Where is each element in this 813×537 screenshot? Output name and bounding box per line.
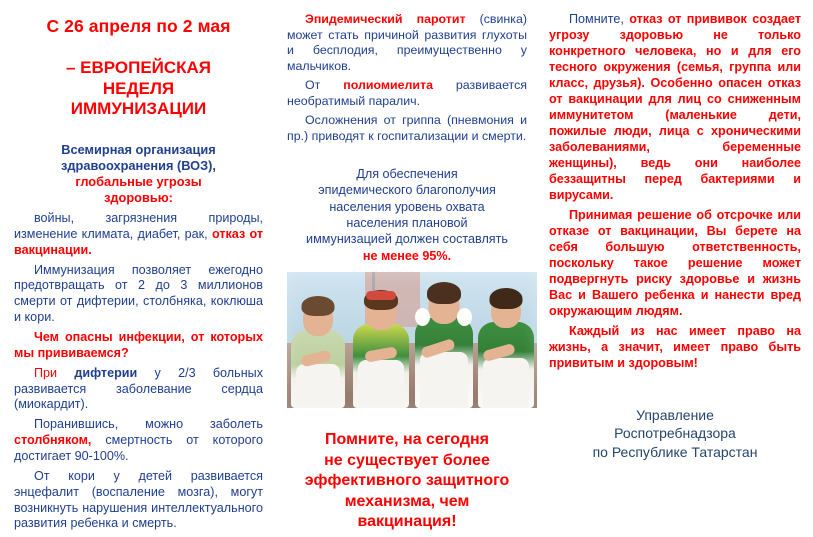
photo-child-3 bbox=[413, 278, 475, 408]
slogan-line-4: механизма, чем bbox=[345, 493, 470, 510]
middle-column: Эпидемический паротит (свинка) может ста… bbox=[277, 0, 537, 537]
paragraph-tetanus: Поранившись, можно заболеть столбняком, … bbox=[14, 417, 263, 465]
heading-why-infections-dangerous: Чем опасны инфекции, от которых мы приви… bbox=[14, 330, 263, 362]
photo-child-2-headband bbox=[366, 291, 396, 300]
photo-child-1-hair bbox=[302, 296, 335, 316]
slogan-line-5: вакцинация! bbox=[357, 513, 456, 530]
coverage-threshold-value: не менее 95%. bbox=[363, 249, 451, 263]
polio-term: полиомиелита bbox=[343, 78, 433, 92]
refusal-risk-lead: Помните, bbox=[569, 12, 624, 26]
paragraph-diphtheria: При дифтерии у 2/3 больных развивается з… bbox=[14, 366, 263, 414]
vaccination-slogan: Помните, на сегодня не существует более … bbox=[287, 430, 527, 532]
who-heading-line-1: Всемирная организация bbox=[61, 142, 216, 157]
coverage-line-4: населения плановой bbox=[346, 216, 467, 230]
paragraph-right-to-health: Каждый из нас имеет право на жизнь, а зн… bbox=[549, 324, 801, 372]
who-heading: Всемирная организация здравоохранения (В… bbox=[14, 142, 263, 206]
authority-line-3: по Республике Татарстан bbox=[593, 444, 758, 460]
coverage-statement: Для обеспечения эпидемического благополу… bbox=[287, 166, 527, 264]
issuing-authority: Управление Роспотребнадзора по Республик… bbox=[549, 406, 801, 461]
who-heading-line-4: здоровью: bbox=[104, 190, 173, 205]
photo-child-3-apron bbox=[420, 352, 468, 408]
paragraph-mumps: Эпидемический паротит (свинка) может ста… bbox=[287, 12, 527, 74]
paragraph-measles: От кори у детей развивается энцефалит (в… bbox=[14, 469, 263, 532]
tetanus-lead: Поранившись, можно заболеть bbox=[34, 417, 263, 431]
diphtheria-term: дифтерии bbox=[74, 366, 137, 380]
who-heading-line-2: здравоохранения (ВОЗ), bbox=[61, 158, 216, 173]
left-column: С 26 апреля по 2 мая – ЕВРОПЕЙСКАЯ НЕДЕЛ… bbox=[0, 0, 277, 537]
photo-child-1 bbox=[289, 290, 347, 408]
header-title: – ЕВРОПЕЙСКАЯ НЕДЕЛЯ ИММУНИЗАЦИИ bbox=[14, 58, 263, 120]
photo-child-2 bbox=[351, 284, 411, 408]
slogan-line-1: Помните, на сегодня bbox=[325, 431, 489, 448]
photo-child-1-apron bbox=[296, 364, 340, 408]
photo-child-2-apron bbox=[358, 360, 404, 408]
header-date: С 26 апреля по 2 мая bbox=[14, 16, 263, 38]
paragraph-responsibility: Принимая решение об отсрочке или отказе … bbox=[549, 208, 801, 320]
slogan-line-2: не существует более bbox=[324, 452, 490, 469]
coverage-line-2: эпидемического благополучия bbox=[318, 183, 496, 197]
polio-lead: От bbox=[305, 78, 320, 92]
heading-why-infections-dangerous-text: Чем опасны инфекции, от которых мы приви… bbox=[14, 330, 263, 360]
right-column: Помните, отказ от прививок создает угроз… bbox=[537, 0, 813, 537]
header-title-line-3: ИММУНИЗАЦИИ bbox=[71, 99, 206, 118]
children-vaccination-photo bbox=[287, 272, 537, 408]
paragraph-polio: От полиомиелита развивается необратимый … bbox=[287, 78, 527, 109]
photo-child-4-hair bbox=[490, 288, 523, 309]
refusal-risk-body: отказ от прививок создает угрозу здоровь… bbox=[549, 12, 801, 202]
paragraph-refusal-risk: Помните, отказ от прививок создает угроз… bbox=[549, 12, 801, 204]
photo-child-4 bbox=[477, 284, 535, 408]
paragraph-influenza: Осложнения от гриппа (пневмония и пр.) п… bbox=[287, 113, 527, 144]
mumps-term: Эпидемический паротит bbox=[305, 12, 466, 26]
brochure-page: С 26 апреля по 2 мая – ЕВРОПЕЙСКАЯ НЕДЕЛ… bbox=[0, 0, 813, 537]
photo-child-3-hair bbox=[427, 282, 461, 304]
photo-child-4-apron bbox=[483, 358, 529, 408]
paragraph-immunization-saves: Иммунизация позволяет ежегодно предотвра… bbox=[14, 263, 263, 326]
diphtheria-lead: При bbox=[34, 366, 57, 380]
header-title-line-1: – ЕВРОПЕЙСКАЯ bbox=[66, 58, 211, 77]
who-heading-line-3: глобальные угрозы bbox=[75, 174, 201, 189]
photo-child-3-bow-right bbox=[457, 308, 472, 326]
coverage-line-1: Для обеспечения bbox=[356, 167, 457, 181]
coverage-line-3: населения уровень охвата bbox=[329, 200, 484, 214]
tetanus-term: столбняком, bbox=[14, 433, 91, 447]
coverage-line-5: иммунизацией должен составлять bbox=[306, 232, 508, 246]
authority-line-2: Роспотребнадзора bbox=[614, 425, 736, 441]
header-title-line-2: НЕДЕЛЯ bbox=[103, 79, 174, 98]
slogan-line-3: эффективного защитного bbox=[305, 472, 510, 489]
paragraph-global-threats: войны, загрязнения природы, изменение кл… bbox=[14, 211, 263, 259]
authority-line-1: Управление bbox=[636, 407, 714, 423]
